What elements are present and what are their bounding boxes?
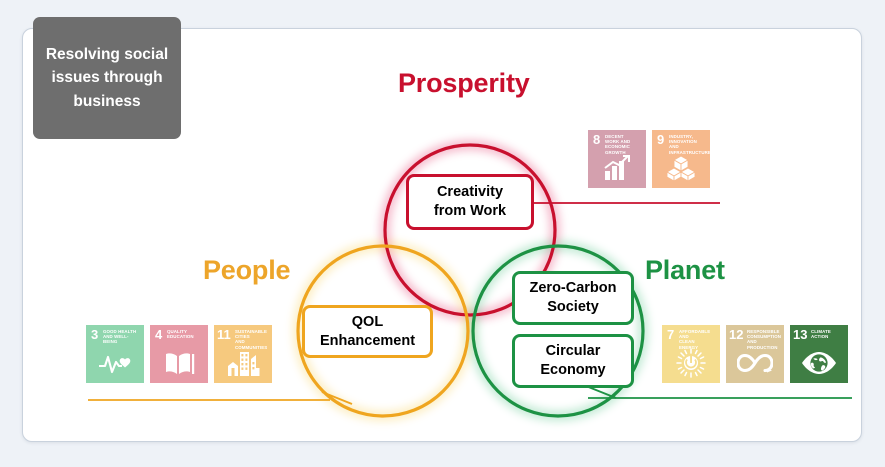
sdg-number-11: 11 [217, 328, 231, 341]
sdg-badges-planet: 7 AFFORDABLE AND CLEAN ENERGY [662, 325, 848, 383]
prosperity-label: Prosperity [398, 68, 530, 99]
sdg-badge-13: 13 CLIMATE ACTION [790, 325, 848, 383]
sdg-number-7: 7 [667, 328, 674, 341]
sdg-number-3: 3 [91, 328, 98, 341]
sdg-badge-9: 9 INDUSTRY, INNOVATION AND INFRASTRUCTUR… [652, 130, 710, 188]
sdg-badges-prosperity: 8 DECENT WORK AND ECONOMIC GROWTH 9 INDU… [588, 130, 710, 188]
sdg-badge-11: 11 SUSTAINABLE CITIES AND COMMUNITIES [214, 325, 272, 383]
circular-economy-box: Circular Economy [512, 334, 634, 388]
sdg-badges-people: 3 GOOD HEALTH AND WELL-BEING 4 QUALITY E… [86, 325, 272, 383]
growth-chart-icon [588, 151, 646, 185]
sdg-number-4: 4 [155, 328, 162, 341]
sdg-badge-7: 7 AFFORDABLE AND CLEAN ENERGY [662, 325, 720, 383]
qol-enhancement-box: QOL Enhancement [302, 305, 433, 358]
heartbeat-icon [86, 346, 144, 380]
sdg-title-13: CLIMATE ACTION [811, 329, 845, 339]
sdg-badge-3: 3 GOOD HEALTH AND WELL-BEING [86, 325, 144, 383]
cubes-icon [652, 151, 710, 185]
sun-icon [662, 346, 720, 380]
infinity-icon [726, 346, 784, 380]
people-label: People [203, 255, 290, 286]
sdg-number-12: 12 [729, 328, 743, 341]
page-title-tag: Resolving social issues through business [33, 17, 181, 139]
sdg-number-9: 9 [657, 133, 664, 146]
city-icon [214, 346, 272, 380]
book-icon [150, 346, 208, 380]
sdg-title-4: QUALITY EDUCATION [167, 329, 201, 339]
sdg-badge-8: 8 DECENT WORK AND ECONOMIC GROWTH [588, 130, 646, 188]
zero-carbon-society-box: Zero-Carbon Society [512, 271, 634, 325]
sdg-badge-12: 12 RESPONSIBLE CONSUMPTION AND PRODUCTIO… [726, 325, 784, 383]
diagram-stage: Prosperity People Planet Creativity from… [0, 0, 885, 467]
eye-globe-icon [790, 346, 848, 380]
planet-label: Planet [645, 255, 725, 286]
sdg-badge-4: 4 QUALITY EDUCATION [150, 325, 208, 383]
sdg-title-3: GOOD HEALTH AND WELL-BEING [103, 329, 137, 345]
sdg-number-13: 13 [793, 328, 807, 341]
creativity-from-work-box: Creativity from Work [406, 174, 534, 230]
sdg-number-8: 8 [593, 133, 600, 146]
